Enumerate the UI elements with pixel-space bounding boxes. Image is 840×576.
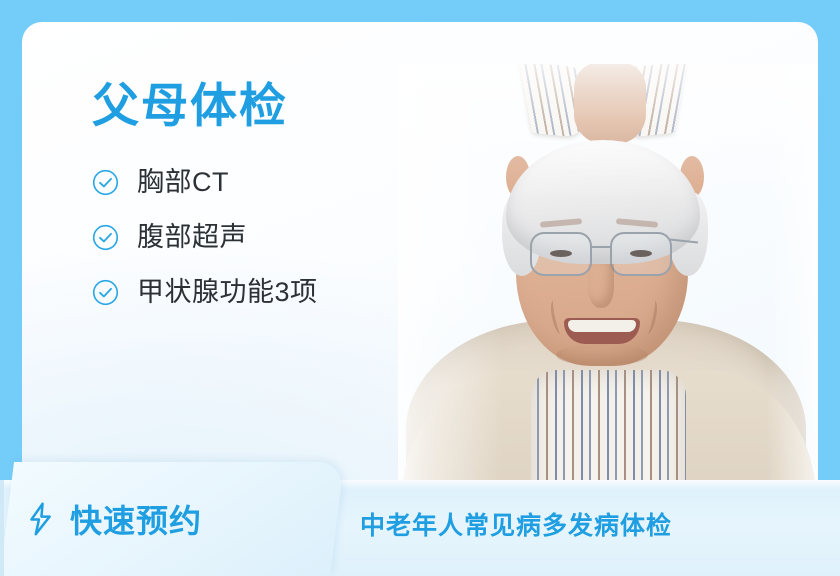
list-item: 腹部超声 (92, 224, 318, 251)
eyeglasses-lens-left (530, 232, 592, 276)
quick-booking-label: 快速预约 (70, 496, 202, 542)
feature-label: 胸部CT (137, 169, 229, 196)
page-title: 父母体检 (92, 82, 318, 129)
health-checkup-promo-card: 父母体检 胸部CT 腹部超声 (0, 0, 840, 576)
feature-list: 胸部CT 腹部超声 甲状腺功能3项 (92, 169, 318, 306)
mouth (564, 318, 640, 344)
check-circle-icon (92, 169, 119, 196)
list-item: 甲状腺功能3项 (92, 279, 318, 306)
chin (556, 344, 648, 366)
feature-label: 甲状腺功能3项 (137, 279, 318, 306)
quick-booking-tab-inner: 快速预约 (0, 462, 330, 576)
bottom-left-edge-sliver (0, 480, 4, 576)
neck (574, 64, 646, 144)
eyeglasses-lens-right (610, 232, 672, 276)
teeth (568, 320, 636, 332)
feature-label: 腹部超声 (137, 224, 247, 251)
eyeglasses-bridge (592, 246, 610, 248)
lightning-bolt-icon (26, 502, 56, 536)
nose (588, 264, 614, 308)
package-description: 中老年人常见病多发病体检 (360, 506, 672, 542)
list-item: 胸部CT (92, 169, 318, 196)
check-circle-icon (92, 224, 119, 251)
quick-booking-tab[interactable]: 快速预约 (0, 462, 344, 576)
check-circle-icon (92, 279, 119, 306)
promo-content: 父母体检 胸部CT 腹部超声 (92, 82, 318, 334)
